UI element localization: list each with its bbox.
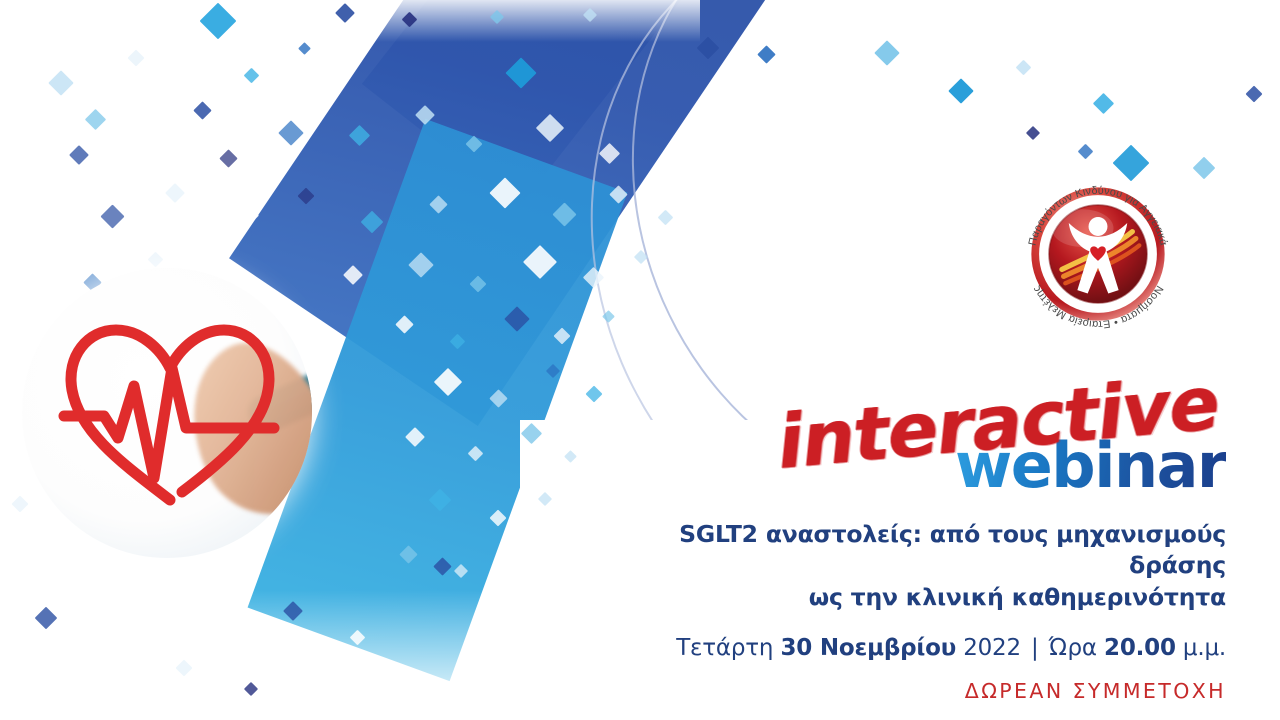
date-prefix: Τετάρτη: [676, 635, 773, 661]
navy-swoosh-line-1: [739, 0, 1280, 408]
mosaic-tile: [583, 8, 597, 22]
mosaic-tile: [69, 145, 89, 165]
mosaic-tile: [31, 191, 62, 222]
mosaic-tile: [450, 334, 466, 350]
mosaic-tile: [434, 368, 462, 396]
subtitle-line-1: SGLT2 αναστολείς: από τους μηχανισμούς δ…: [679, 520, 1226, 579]
mosaic-tile: [283, 601, 303, 621]
mosaic-tile: [1026, 126, 1040, 140]
mosaic-tile: [609, 185, 627, 203]
mosaic-tile: [519, 519, 542, 542]
mosaic-tile: [48, 70, 73, 95]
mosaic-tile: [128, 50, 145, 67]
mosaic-tile: [85, 109, 106, 130]
mosaic-tile: [505, 57, 536, 88]
mosaic-tile: [35, 607, 58, 630]
mosaic-tile: [166, 610, 191, 635]
mosaic-tile: [101, 633, 119, 651]
mosaic-tile: [466, 136, 483, 153]
mosaic-tile: [232, 202, 259, 229]
mosaic-tile: [165, 183, 185, 203]
mosaic-tile: [100, 204, 124, 228]
time-value: 20.00: [1104, 635, 1176, 661]
mosaic-tile: [468, 446, 484, 462]
subtitle-line-2: ως την κλινική καθημερινότητα: [606, 582, 1226, 613]
date-time-line: Τετάρτη 30 Νοεμβρίου 2022 | Ώρα 20.00 μ.…: [606, 635, 1226, 661]
mosaic-tile: [14, 128, 42, 156]
mosaic-tile: [349, 125, 370, 146]
mosaic-tile: [244, 682, 258, 696]
mosaic-tile: [658, 210, 674, 226]
mosaic-tile: [429, 195, 447, 213]
mosaic-tile: [395, 315, 413, 333]
mosaic-tile: [538, 492, 552, 506]
date-year: 2022: [963, 635, 1021, 661]
mosaic-tile: [1093, 93, 1114, 114]
mosaic-tile: [554, 328, 571, 345]
mosaic-tile: [148, 252, 164, 268]
mosaic-tile: [948, 78, 973, 103]
mosaic-tile: [350, 630, 366, 646]
mosaic-tile: [278, 120, 303, 145]
mosaic-tile: [429, 489, 452, 512]
mosaic-tile: [489, 177, 520, 208]
mosaic-tile: [361, 211, 384, 234]
mosaic-tile: [405, 427, 425, 447]
mosaic-tile: [523, 245, 557, 279]
mosaic-tile: [504, 306, 529, 331]
mosaic-tile: [536, 114, 564, 142]
society-logo: Παραγόντων Κινδύνου για Αγγειακά Νοσήματ…: [1012, 168, 1184, 340]
mosaic-tile: [1246, 86, 1263, 103]
poster-text-block: interactive webinar SGLT2 αναστολείς: απ…: [606, 368, 1226, 703]
mosaic-tile: [415, 105, 435, 125]
navy-diagonal-slab: [229, 0, 791, 426]
mosaic-tile: [1016, 60, 1032, 76]
mosaic-tile: [521, 423, 542, 444]
mosaic-tile: [298, 42, 311, 55]
mosaic-tile: [433, 557, 451, 575]
mosaic-tile: [490, 10, 504, 24]
mosaic-tile: [335, 3, 355, 23]
mosaic-tile: [552, 202, 576, 226]
time-label: Ώρα: [1049, 635, 1097, 661]
mosaic-tile: [586, 386, 603, 403]
mosaic-tile: [599, 143, 620, 164]
mosaic-tile: [489, 389, 507, 407]
subtitle: SGLT2 αναστολείς: από τους μηχανισμούς δ…: [606, 519, 1226, 613]
free-participation-note: ΔΩΡΕΑΝ ΣΥΜΜΕΤΟΧΗ: [606, 679, 1226, 703]
white-fade-top: [0, 0, 700, 42]
mosaic-tile: [564, 450, 577, 463]
mosaic-tile: [490, 510, 507, 527]
mosaic-tile: [757, 45, 775, 63]
mosaic-tile: [454, 564, 468, 578]
mosaic-tile: [402, 12, 418, 28]
mosaic-tile: [176, 660, 193, 677]
mosaic-tile: [298, 188, 315, 205]
mosaic-tile: [343, 265, 363, 285]
mosaic-tile: [583, 267, 604, 288]
heart-ecg-photo: [22, 268, 312, 558]
time-suffix: μ.μ.: [1183, 635, 1226, 661]
mosaic-tile: [200, 3, 237, 40]
mosaic-tile: [470, 276, 487, 293]
mosaic-tile: [117, 557, 137, 577]
mosaic-tile: [602, 310, 615, 323]
mosaic-tile: [408, 252, 433, 277]
mosaic-tile: [244, 68, 260, 84]
mosaic-tile: [145, 139, 168, 162]
mosaic-tile: [546, 364, 560, 378]
navy-diagonal-slab-deep: [362, 0, 778, 207]
mosaic-tile: [219, 149, 237, 167]
mosaic-tile: [193, 101, 211, 119]
mosaic-tile: [634, 250, 648, 264]
mosaic-tile: [697, 37, 720, 60]
mosaic-tile: [1078, 144, 1094, 160]
heart-ecg-drawing-icon: [22, 268, 312, 558]
mosaic-tile: [874, 40, 899, 65]
webinar-poster: Παραγόντων Κινδύνου για Αγγειακά Νοσήματ…: [0, 0, 1280, 720]
date-day-month: 30 Νοεμβρίου: [780, 635, 956, 661]
mosaic-tile: [1193, 157, 1216, 180]
mosaic-tile: [399, 545, 417, 563]
date-separator: |: [1028, 635, 1042, 661]
